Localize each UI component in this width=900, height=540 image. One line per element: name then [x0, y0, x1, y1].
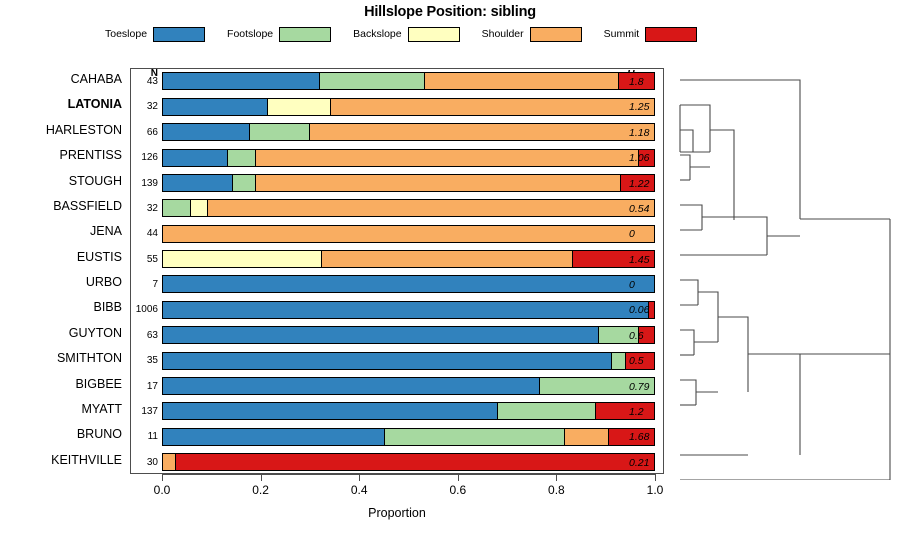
bar-segment-shoulder — [163, 226, 654, 242]
y-axis-label: PRENTISS — [0, 148, 122, 162]
legend-item-summit: Summit — [604, 27, 698, 42]
bar-segment-shoulder — [322, 251, 573, 267]
h-value: 1.2 — [629, 406, 663, 418]
y-axis-label: EUSTIS — [0, 250, 122, 264]
x-axis-tick — [162, 474, 163, 481]
stacked-bar[interactable] — [162, 275, 655, 293]
n-value: 55 — [131, 254, 158, 265]
x-axis-tick — [458, 474, 459, 481]
legend: ToeslopeFootslopeBackslopeShoulderSummit — [105, 24, 805, 44]
y-axis-label: URBO — [0, 275, 122, 289]
y-axis-label: HARLESTON — [0, 123, 122, 137]
stacked-bar[interactable] — [162, 98, 655, 116]
bar-segment-toeslope — [163, 175, 233, 191]
stacked-bar[interactable] — [162, 301, 655, 319]
x-axis: 0.00.20.40.60.81.0 — [130, 474, 664, 490]
chart-row: 170.79 — [131, 374, 665, 399]
stacked-bar[interactable] — [162, 174, 655, 192]
y-axis-label: BIBB — [0, 300, 122, 314]
y-axis-label: JENA — [0, 224, 122, 238]
legend-swatch — [645, 27, 697, 42]
h-value: 0.54 — [629, 203, 663, 215]
x-axis-tick-label: 0.0 — [142, 483, 182, 497]
bar-segment-backslope — [191, 200, 208, 216]
n-value: 32 — [131, 203, 158, 214]
legend-label: Backslope — [353, 28, 401, 40]
plot-panel: N H 431.8321.25661.181261.061391.22320.5… — [130, 68, 664, 474]
h-value: 1.18 — [629, 127, 663, 139]
stacked-bar[interactable] — [162, 428, 655, 446]
x-axis-tick — [359, 474, 360, 481]
bar-segment-footslope — [250, 124, 310, 140]
chart-row: 440 — [131, 221, 665, 246]
chart-row: 551.45 — [131, 247, 665, 272]
h-value: 1.22 — [629, 178, 663, 190]
bar-segment-toeslope — [163, 73, 320, 89]
x-axis-tick-label: 0.2 — [241, 483, 281, 497]
stacked-bar[interactable] — [162, 225, 655, 243]
stacked-bar[interactable] — [162, 453, 655, 471]
bar-segment-toeslope — [163, 150, 228, 166]
y-axis-label: GUYTON — [0, 326, 122, 340]
n-value: 17 — [131, 381, 158, 392]
chart-row: 1371.2 — [131, 399, 665, 424]
legend-label: Toeslope — [105, 28, 147, 40]
bar-segment-toeslope — [163, 353, 612, 369]
n-value: 11 — [131, 431, 158, 442]
n-value: 7 — [131, 279, 158, 290]
chart-row: 70 — [131, 272, 665, 297]
n-value: 44 — [131, 228, 158, 239]
x-axis-tick-label: 0.8 — [536, 483, 576, 497]
x-axis-tick — [261, 474, 262, 481]
h-value: 0.6 — [629, 330, 663, 342]
stacked-bar[interactable] — [162, 402, 655, 420]
n-value: 137 — [131, 406, 158, 417]
x-axis-line — [130, 474, 664, 482]
y-axis-label: LATONIA — [0, 97, 122, 111]
h-value: 1.45 — [629, 254, 663, 266]
bar-segment-shoulder — [208, 200, 654, 216]
bar-segment-toeslope — [163, 276, 654, 292]
bar-segment-toeslope — [163, 302, 649, 318]
bar-segment-shoulder — [256, 175, 621, 191]
legend-swatch — [408, 27, 460, 42]
legend-item-footslope: Footslope — [227, 27, 331, 42]
bar-segment-shoulder — [163, 454, 176, 470]
legend-swatch — [279, 27, 331, 42]
stacked-bar[interactable] — [162, 149, 655, 167]
x-axis-label: Proportion — [130, 506, 664, 520]
chart-row: 431.8 — [131, 69, 665, 94]
legend-item-backslope: Backslope — [353, 27, 459, 42]
h-value: 1.68 — [629, 431, 663, 443]
dendrogram — [672, 62, 900, 480]
stacked-bar[interactable] — [162, 250, 655, 268]
n-value: 43 — [131, 76, 158, 87]
bar-segment-footslope — [498, 403, 596, 419]
bar-segment-shoulder — [565, 429, 609, 445]
bar-segment-toeslope — [163, 124, 250, 140]
bar-segment-footslope — [233, 175, 257, 191]
h-value: 0.5 — [629, 355, 663, 367]
stacked-bar[interactable] — [162, 326, 655, 344]
n-value: 66 — [131, 127, 158, 138]
y-axis-label: BIGBEE — [0, 377, 122, 391]
stacked-bar[interactable] — [162, 377, 655, 395]
bar-segment-shoulder — [331, 99, 654, 115]
stacked-bar[interactable] — [162, 352, 655, 370]
y-axis-label: KEITHVILLE — [0, 453, 122, 467]
x-axis-tick-label: 0.4 — [339, 483, 379, 497]
chart-row: 320.54 — [131, 196, 665, 221]
y-axis-label: SMITHTON — [0, 351, 122, 365]
bar-segment-toeslope — [163, 378, 540, 394]
bar-segment-toeslope — [163, 99, 268, 115]
bar-segment-footslope — [320, 73, 425, 89]
stacked-bar[interactable] — [162, 72, 655, 90]
y-axis-label: CAHABA — [0, 72, 122, 86]
stacked-bar[interactable] — [162, 123, 655, 141]
h-value: 0 — [629, 228, 663, 240]
y-axis-label: BRUNO — [0, 427, 122, 441]
bar-segment-toeslope — [163, 429, 385, 445]
legend-label: Summit — [604, 28, 640, 40]
bar-segment-footslope — [228, 150, 256, 166]
h-value: 1.06 — [629, 152, 663, 164]
bar-segment-footslope — [385, 429, 565, 445]
h-value: 0.79 — [629, 381, 663, 393]
legend-label: Footslope — [227, 28, 273, 40]
n-value: 63 — [131, 330, 158, 341]
h-value: 0.06 — [629, 304, 663, 316]
x-axis-tick-label: 0.6 — [438, 483, 478, 497]
h-value: 1.8 — [629, 76, 663, 88]
h-value: 1.25 — [629, 101, 663, 113]
legend-item-shoulder: Shoulder — [482, 27, 582, 42]
chart-row: 350.5 — [131, 348, 665, 373]
chart-row: 321.25 — [131, 94, 665, 119]
n-value: 30 — [131, 457, 158, 468]
bar-segment-summit — [176, 454, 654, 470]
y-axis-labels: CAHABALATONIAHARLESTONPRENTISSSTOUGHBASS… — [0, 68, 126, 474]
y-axis-label: MYATT — [0, 402, 122, 416]
n-value: 126 — [131, 152, 158, 163]
x-axis-tick-label: 1.0 — [635, 483, 675, 497]
bar-segment-toeslope — [163, 403, 498, 419]
bar-segment-shoulder — [310, 124, 654, 140]
chart-row: 1261.06 — [131, 145, 665, 170]
bar-segment-backslope — [268, 99, 332, 115]
legend-swatch — [153, 27, 205, 42]
legend-item-toeslope: Toeslope — [105, 27, 205, 42]
page-title: Hillslope Position: sibling — [0, 4, 900, 20]
h-value: 0 — [629, 279, 663, 291]
chart-row: 661.18 — [131, 120, 665, 145]
chart-row: 630.6 — [131, 323, 665, 348]
n-value: 1006 — [131, 304, 158, 315]
x-axis-tick — [556, 474, 557, 481]
bar-segment-footslope — [612, 353, 626, 369]
legend-swatch — [530, 27, 582, 42]
n-value: 35 — [131, 355, 158, 366]
x-axis-tick — [655, 474, 656, 481]
chart-row: 1391.22 — [131, 171, 665, 196]
bar-segment-toeslope — [163, 327, 599, 343]
bar-segment-footslope — [163, 200, 191, 216]
y-axis-label: BASSFIELD — [0, 199, 122, 213]
h-value: 0.21 — [629, 457, 663, 469]
n-value: 32 — [131, 101, 158, 112]
chart-root: Hillslope Position: sibling ToeslopeFoot… — [0, 0, 900, 540]
bar-segment-shoulder — [425, 73, 619, 89]
stacked-bar[interactable] — [162, 199, 655, 217]
bar-segment-backslope — [163, 251, 322, 267]
legend-label: Shoulder — [482, 28, 524, 40]
chart-row: 10060.06 — [131, 297, 665, 322]
chart-row: 300.21 — [131, 450, 665, 475]
y-axis-label: STOUGH — [0, 174, 122, 188]
bar-segment-shoulder — [256, 150, 639, 166]
chart-row: 111.68 — [131, 424, 665, 449]
n-value: 139 — [131, 178, 158, 189]
